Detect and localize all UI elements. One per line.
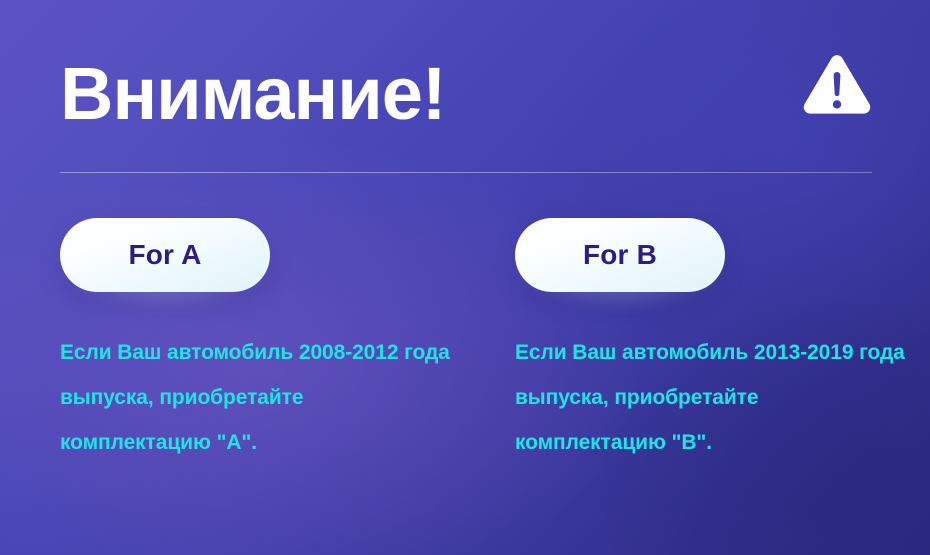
header-divider [60,172,872,173]
attention-banner: Внимание! For A Если Ваш автомобиль 2008… [0,0,930,555]
for-b-button-label: For B [583,241,657,269]
for-b-button[interactable]: For B [515,218,725,292]
option-a-description: Если Ваш автомобиль 2008-2012 года выпус… [60,330,452,465]
for-a-button[interactable]: For A [60,218,270,292]
option-column-b: For B Если Ваш автомобиль 2013-2019 года… [515,218,930,486]
for-a-button-wrapper: For A [60,218,270,292]
option-b-description: Если Ваш автомобиль 2013-2019 года выпус… [515,330,907,465]
page-title: Внимание! [60,46,446,142]
for-b-button-wrapper: For B [515,218,725,292]
for-a-button-label: For A [128,241,201,269]
banner-header: Внимание! [60,46,872,142]
warning-triangle-icon [802,54,872,118]
option-column-a: For A Если Ваш автомобиль 2008-2012 года… [60,218,475,486]
options-columns: For A Если Ваш автомобиль 2008-2012 года… [0,218,930,486]
